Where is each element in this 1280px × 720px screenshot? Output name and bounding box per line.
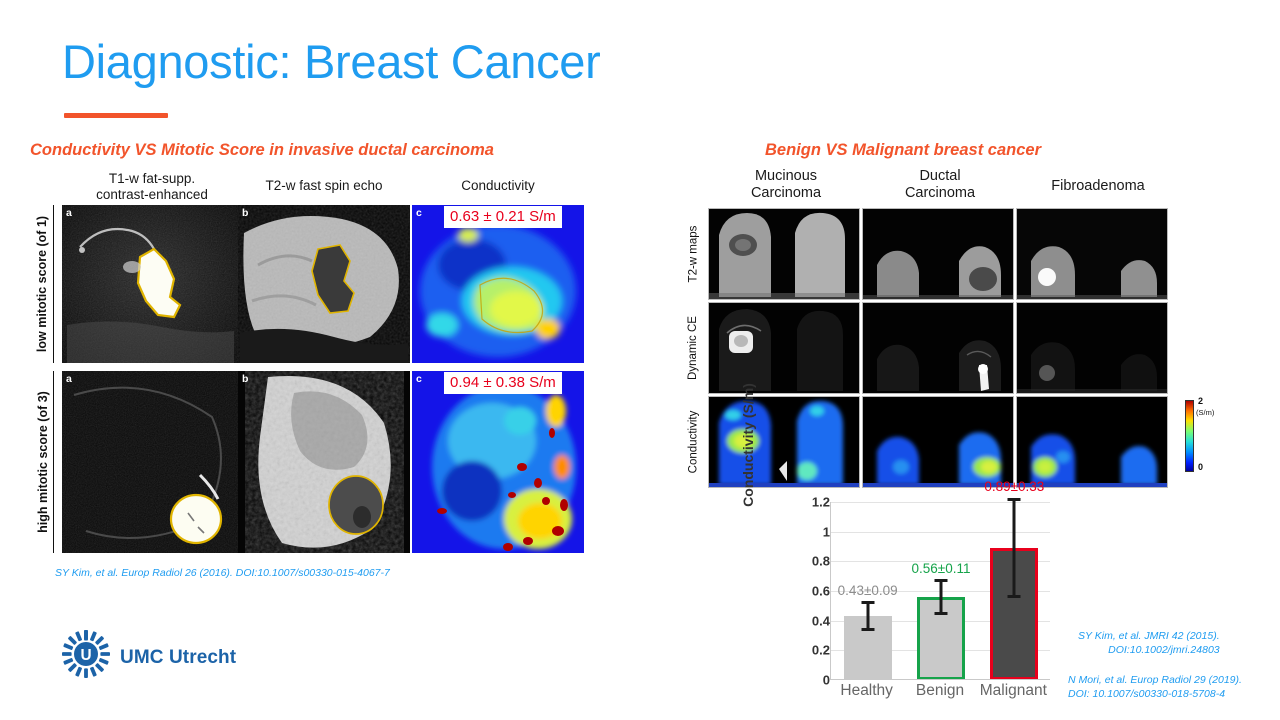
- right-column-header-ductal: DuctalCarcinoma: [866, 168, 1014, 203]
- grid-cell-dce-fibroadenoma: [1016, 302, 1168, 394]
- conductivity-value-row1: 0.63 ± 0.21 S/m: [444, 206, 562, 228]
- title-underline-rule: [64, 113, 168, 118]
- chart-x-tick: Malignant: [980, 682, 1047, 700]
- right-column-header-mucinous: MucinousCarcinoma: [712, 168, 860, 203]
- right-row-label-dynamic-ce-text: Dynamic CE: [687, 316, 699, 380]
- chart-error-bar: [1013, 499, 1016, 597]
- umc-utrecht-logo: U UMC Utrecht: [62, 630, 292, 688]
- mri-image-row2-t2w: b: [238, 371, 410, 553]
- chart-gridline: [831, 502, 1050, 503]
- citation-left: SY Kim, et al. Europ Radiol 26 (2016). D…: [55, 566, 390, 580]
- conductivity-map-row2: c: [412, 371, 584, 553]
- panel-tag-b-row2: b: [242, 373, 248, 385]
- grid-cell-dce-mucinous: [708, 302, 860, 394]
- right-row-label-t2w: T2-w maps: [680, 208, 706, 300]
- colorbar-jet: [1185, 400, 1194, 472]
- right-column-header-fibroadenoma: Fibroadenoma: [1020, 178, 1176, 195]
- grid-cell-t2w-mucinous: [708, 208, 860, 300]
- chart-y-tick: 1.2: [790, 495, 830, 510]
- chart-data-label: 0.89±0.33: [984, 479, 1044, 494]
- citation-right-1-line2: DOI:10.1002/jmri.24803: [1078, 643, 1220, 657]
- svg-text:U: U: [80, 647, 91, 664]
- citation-right-2-line1: N Mori, et al. Europ Radiol 29 (2019).: [1068, 673, 1242, 687]
- right-row-label-dynamic-ce: Dynamic CE: [680, 302, 706, 394]
- chart-x-tick: Healthy: [840, 682, 893, 700]
- chart-data-label: 0.56±0.11: [912, 561, 971, 576]
- chart-error-cap: [861, 601, 874, 604]
- logo-text: UMC Utrecht: [120, 647, 236, 669]
- citation-right-2-line2: DOI: 10.1007/s00330-018-5708-4: [1068, 687, 1242, 701]
- grid-cell-dce-ductal: [862, 302, 1014, 394]
- chart-y-axis-label: Conductivity (S/m): [740, 370, 756, 520]
- panel-tag-a: a: [66, 207, 72, 219]
- colorbar-unit-label: (S/m): [1196, 408, 1214, 417]
- grid-cell-conductivity-ductal: [862, 396, 1014, 488]
- colorbar-min-label: 0: [1198, 462, 1203, 472]
- chart-y-tick: 0: [790, 673, 830, 688]
- chart-x-axis: [831, 679, 1050, 681]
- chart-y-tick: 0.4: [790, 613, 830, 628]
- chart-x-tick: Benign: [916, 682, 964, 700]
- citation-right-1-line1: SY Kim, et al. JMRI 42 (2015).: [1078, 629, 1220, 643]
- citation-right-2: N Mori, et al. Europ Radiol 29 (2019). D…: [1068, 673, 1242, 702]
- panel-tag-c: c: [416, 207, 422, 219]
- panel-tag-a-row2: a: [66, 373, 72, 385]
- conductivity-bar-chart: Conductivity (S/m) 00.20.40.60.811.2 0.4…: [752, 494, 1062, 720]
- grid-cell-conductivity-mucinous: [708, 396, 860, 488]
- left-column-header-conductivity: Conductivity: [412, 178, 584, 194]
- chart-y-tick: 0.6: [790, 584, 830, 599]
- chart-data-label: 0.43±0.09: [838, 583, 898, 598]
- right-row-label-conductivity: Conductivity: [680, 396, 706, 488]
- left-section-heading: Conductivity VS Mitotic Score in invasiv…: [30, 141, 494, 160]
- mri-image-row1-t2w: b: [238, 205, 410, 363]
- panel-tag-b: b: [242, 207, 248, 219]
- slide-canvas: Diagnostic: Breast Cancer Conductivity V…: [0, 0, 1280, 720]
- conductivity-map-row1: c: [412, 205, 584, 363]
- left-row-label-low-mitotic-text: low mitotic score (of 1): [36, 216, 50, 352]
- chart-y-tick: 0.2: [790, 643, 830, 658]
- citation-right-1: SY Kim, et al. JMRI 42 (2015). DOI:10.10…: [1078, 629, 1220, 658]
- left-row-label-low-mitotic: low mitotic score (of 1): [32, 205, 54, 363]
- conductivity-value-row2: 0.94 ± 0.38 S/m: [444, 372, 562, 394]
- chart-error-cap: [935, 579, 948, 582]
- left-row-label-high-mitotic: high mitotic score (of 3): [32, 371, 54, 553]
- mri-image-row2-t1w: a: [62, 371, 238, 553]
- left-row-label-high-mitotic-text: high mitotic score (of 3): [36, 391, 50, 533]
- chart-error-cap: [1008, 498, 1021, 501]
- grid-cell-t2w-fibroadenoma: [1016, 208, 1168, 300]
- chart-y-tick: 0.8: [790, 554, 830, 569]
- chart-plot-area: 0.43±0.090.56±0.110.89±0.33: [830, 502, 1050, 680]
- page-title: Diagnostic: Breast Cancer: [62, 34, 600, 89]
- right-row-label-conductivity-text: Conductivity: [687, 411, 699, 474]
- left-column-header-t1w: T1-w fat-supp.contrast-enhanced: [62, 171, 242, 203]
- chart-error-cap: [1008, 595, 1021, 598]
- chart-error-cap: [861, 628, 874, 631]
- mri-image-row1-t1w: a: [62, 205, 238, 363]
- right-section-heading: Benign VS Malignant breast cancer: [765, 141, 1041, 160]
- chart-error-bar: [940, 581, 943, 614]
- grid-cell-conductivity-fibroadenoma: [1016, 396, 1168, 488]
- panel-tag-c-row2: c: [416, 373, 422, 385]
- chart-y-tick: 1: [790, 524, 830, 539]
- right-row-label-t2w-text: T2-w maps: [687, 226, 699, 283]
- umc-sunburst-icon: U: [62, 630, 110, 678]
- colorbar-max-label: 2: [1198, 396, 1203, 406]
- chart-error-bar: [866, 603, 869, 630]
- grid-cell-t2w-ductal: [862, 208, 1014, 300]
- left-column-header-t2w: T2-w fast spin echo: [238, 178, 410, 194]
- chart-error-cap: [935, 612, 948, 615]
- chart-gridline: [831, 532, 1050, 533]
